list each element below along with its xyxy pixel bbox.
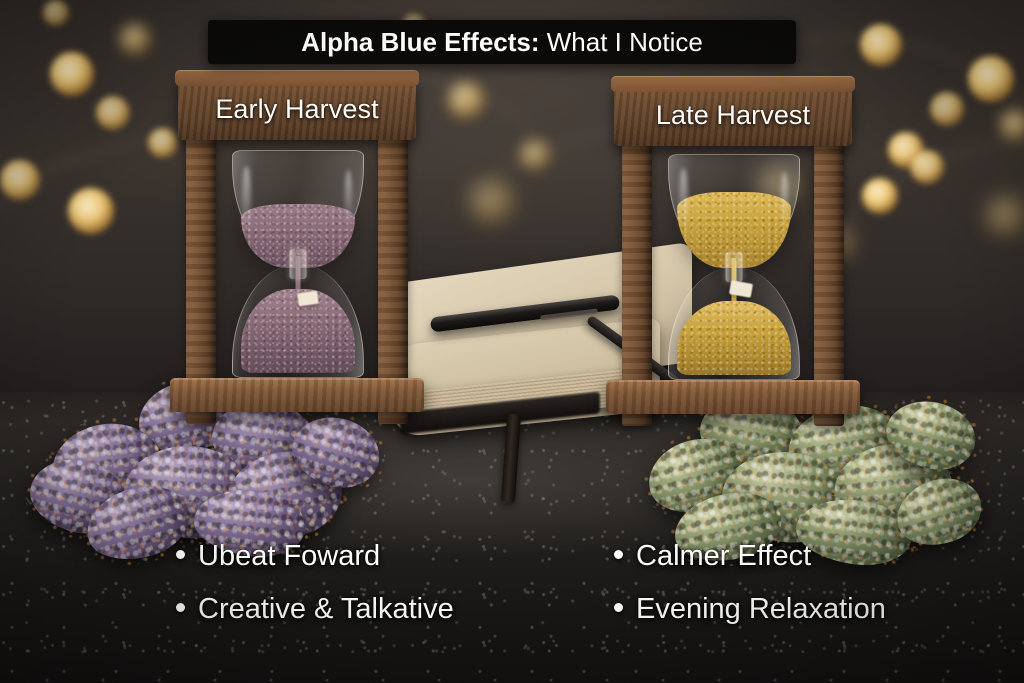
paper-fragment	[297, 291, 319, 307]
infographic-canvas: Early Harvest Late Harvest	[0, 0, 1024, 683]
hourglass-cap-bevel	[611, 76, 855, 92]
bullet-dot-icon	[614, 603, 623, 612]
hourglass-cap-bevel	[175, 70, 419, 86]
hourglass-early-harvest: Early Harvest	[178, 78, 416, 418]
glass-neck	[290, 249, 307, 279]
bullet-label: Calmer Effect	[636, 540, 811, 573]
list-item: Ubeat Foward	[176, 540, 454, 573]
glass-highlight-left	[242, 166, 251, 238]
bullet-dot-icon	[176, 550, 185, 559]
glass-neck	[726, 252, 743, 282]
list-item: Creative & Talkative	[176, 593, 454, 626]
bullet-label: Evening Relaxation	[636, 593, 886, 626]
hourglass-base-early	[170, 378, 424, 412]
hourglass-late-harvest: Late Harvest	[614, 84, 852, 424]
glass-highlight-right	[345, 170, 352, 228]
page-title: Alpha Blue Effects: What I Notice	[301, 29, 703, 55]
bullet-list-early-harvest: Ubeat Foward Creative & Talkative	[176, 540, 454, 646]
glass-highlight-right	[781, 172, 788, 232]
hourglass-glass	[668, 154, 800, 380]
list-item: Calmer Effect	[614, 540, 886, 573]
title-bar: Alpha Blue Effects: What I Notice	[208, 20, 796, 64]
bullet-label: Creative & Talkative	[198, 593, 454, 626]
bullet-label: Ubeat Foward	[198, 540, 380, 573]
hourglass-base-late	[606, 380, 860, 414]
bullet-list-late-harvest: Calmer Effect Evening Relaxation	[614, 540, 886, 646]
title-strong-part: Alpha Blue Effects:	[301, 27, 539, 57]
glass-highlight-left	[679, 168, 688, 238]
hourglass-glass	[232, 150, 364, 378]
bullet-dot-icon	[614, 550, 623, 559]
bullet-dot-icon	[176, 603, 185, 612]
hourglass-label-early: Early Harvest	[178, 94, 416, 125]
title-light-part: What I Notice	[540, 27, 703, 57]
list-item: Evening Relaxation	[614, 593, 886, 626]
hourglass-label-late: Late Harvest	[614, 100, 852, 131]
